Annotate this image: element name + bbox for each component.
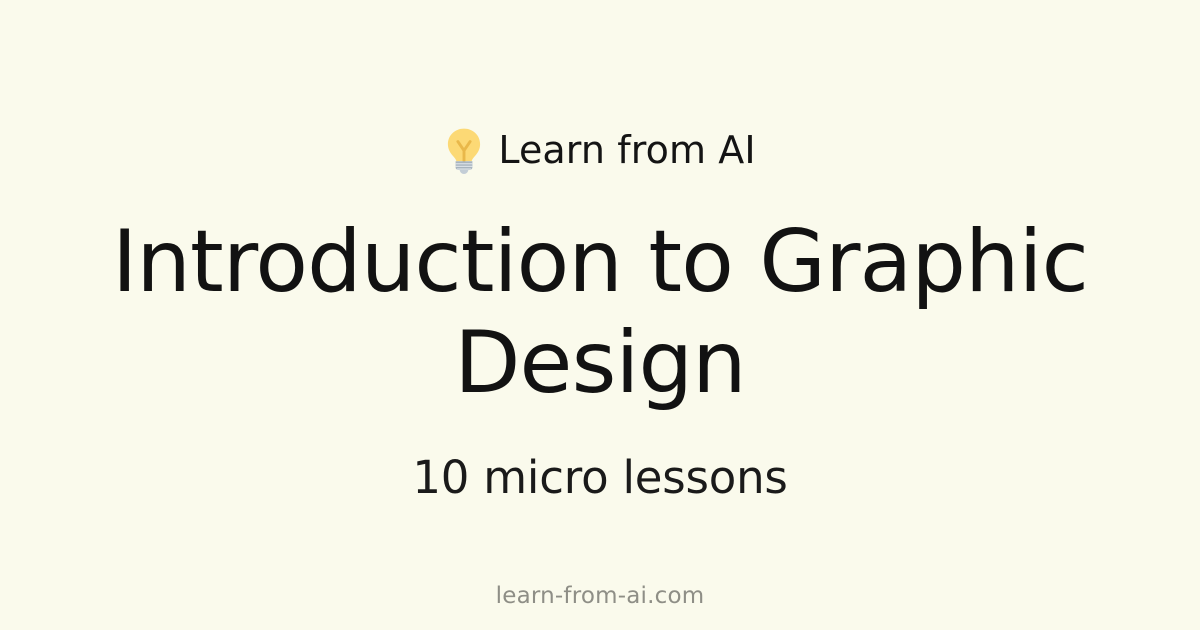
lesson-count-subtitle: 10 micro lessons — [0, 451, 1200, 505]
course-share-card: Learn from AI Introduction to Graphic De… — [0, 0, 1200, 630]
course-title: Introduction to Graphic Design — [0, 212, 1200, 413]
light-bulb-icon — [444, 127, 484, 175]
brand-label: Learn from AI — [498, 131, 755, 169]
site-url-footer: learn-from-ai.com — [0, 583, 1200, 611]
eyebrow-banner: Learn from AI — [0, 119, 1200, 181]
